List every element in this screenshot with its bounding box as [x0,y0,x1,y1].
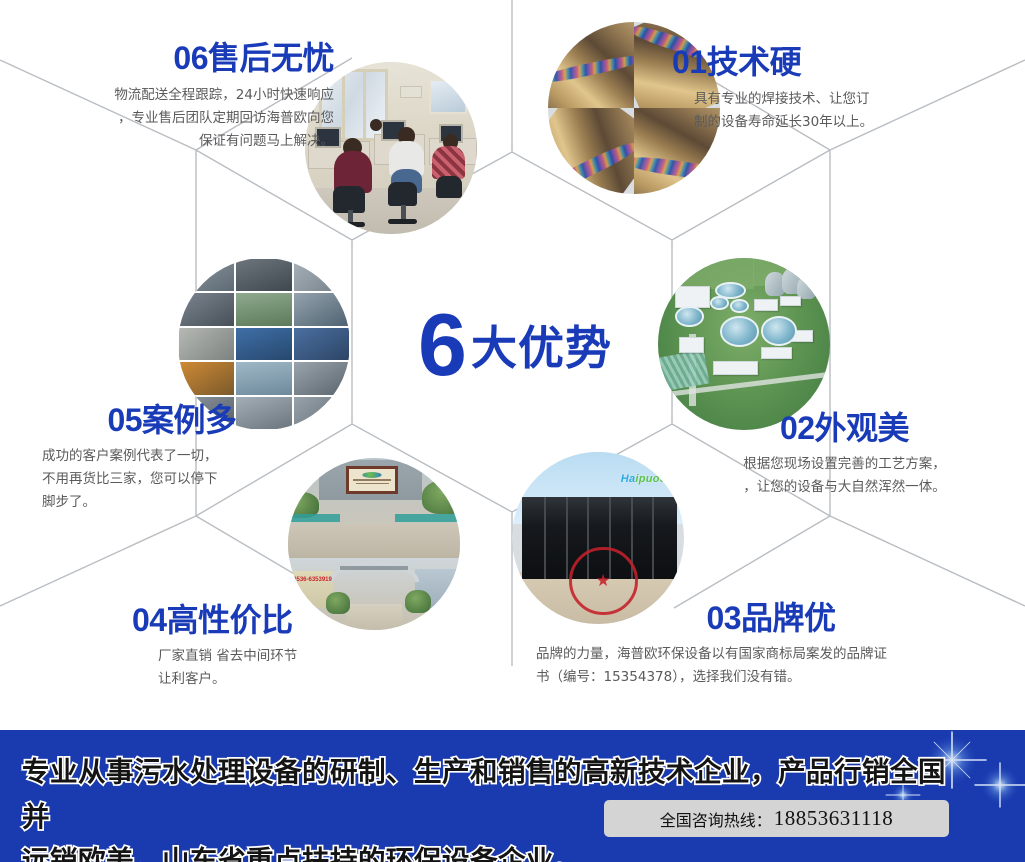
brand-logo-part-b: ipuou [635,473,666,485]
feature-02: 02外观美 根据您现场设置完善的工艺方案， ，让您的设备与大自然浑然一体。 [672,412,1017,499]
feature-05-number: 05 [107,402,142,438]
infographic-root: 01技术硬 具有专业的焊接技术、让您订 制的设备寿命延长30年以上。 [0,0,1025,862]
feature-01-number: 01 [672,44,707,80]
brand-logo: Haipuou [621,473,667,485]
feature-04-number: 04 [132,602,167,638]
hotline-label: 全国咨询热线： [660,807,772,831]
feature-03-title: 03品牌优 [536,602,1006,636]
feature-05-heading: 案例多 [142,402,237,438]
feature-04-heading: 高性价比 [167,602,293,638]
feature-05-body: 成功的客户案例代表了一切， 不用再货比三家，您可以停下 脚步了。 [22,445,322,515]
feature-01-body: 具有专业的焊接技术、让您订 制的设备寿命延长30年以上。 [672,88,1012,134]
hotline-number: 18853631118 [774,806,893,831]
feature-02-body: 根据您现场设置完善的工艺方案， ，让您的设备与大自然浑然一体。 [672,453,1017,499]
seal-star-icon: ★ [596,572,611,589]
feature-04-title: 04高性价比 [132,604,462,638]
feature-01: 01技术硬 具有专业的焊接技术、让您订 制的设备寿命延长30年以上。 [672,46,1012,134]
feature-04-body: 厂家直销 省去中间环节 让利客户。 [132,645,462,691]
feature-06: 06售后无忧 物流配送全程跟踪，24小时快速响应 ，专业售后团队定期回访海普欧向… [14,42,334,153]
feature-06-body: 物流配送全程跟踪，24小时快速响应 ，专业售后团队定期回访海普欧向您 保证有问题… [14,84,334,154]
feature-03-heading: 品牌优 [741,600,836,636]
center-hub: 6 大优势 [365,285,665,405]
feature-06-title: 06售后无忧 [14,42,334,76]
feature-03-number: 03 [706,600,741,636]
feature-05-title: 05案例多 [22,404,322,438]
feature-02-title: 02外观美 [672,412,1017,446]
aerial-treatment-plant-photo [658,258,830,430]
feature-03: 03品牌优 品牌的力量，海普欧环保设备以有国家商标局案发的品牌证 书（编号：15… [536,602,1006,689]
center-label: 大优势 [471,312,612,378]
feature-03-body: 品牌的力量，海普欧环保设备以有国家商标局案发的品牌证 书（编号：15354378… [536,643,1006,689]
feature-06-number: 06 [173,40,208,76]
feature-01-heading: 技术硬 [707,44,802,80]
center-number: 6 [418,305,465,384]
hotline-box[interactable]: 全国咨询热线： 18853631118 [604,800,949,837]
feature-05: 05案例多 成功的客户案例代表了一切， 不用再货比三家，您可以停下 脚步了。 [22,404,322,514]
brand-logo-part-a: Ha [621,473,636,485]
equipment-with-seal-photo: Haipuou ★ [512,452,684,624]
feature-06-heading: 售后无忧 [208,40,334,76]
feature-01-title: 01技术硬 [672,46,1012,80]
feature-02-heading: 外观美 [815,410,910,446]
feature-04: 04高性价比 厂家直销 省去中间环节 让利客户。 [132,604,462,691]
feature-02-number: 02 [780,410,815,446]
bottom-banner: 专业从事污水处理设备的研制、生产和销售的高新技术企业，产品行销全国并 远销欧美，… [0,730,1025,862]
